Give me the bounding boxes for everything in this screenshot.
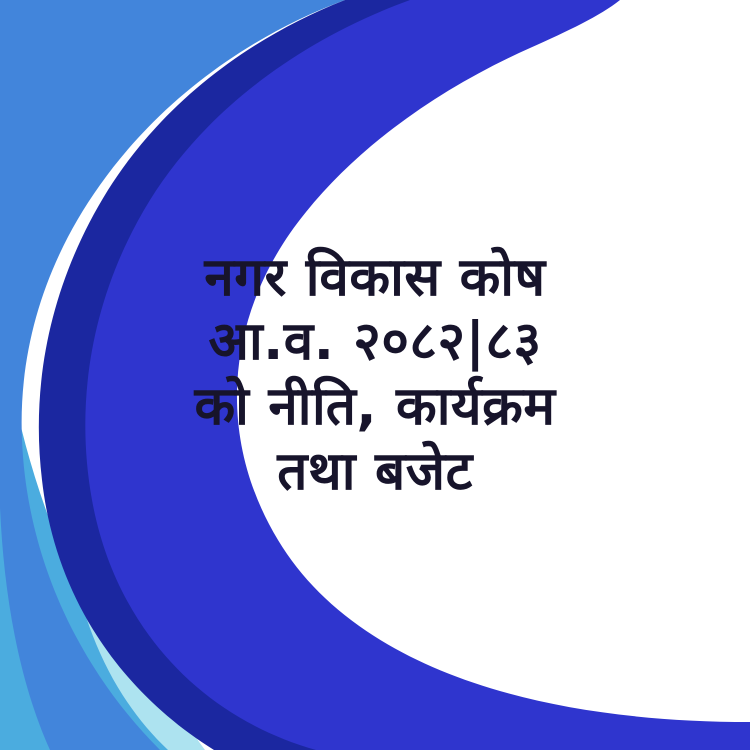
poster-slide: नगर विकास कोष आ.व. २०८२|८३ को नीति, कार्… bbox=[0, 0, 750, 750]
background-wave-artwork bbox=[0, 0, 750, 750]
